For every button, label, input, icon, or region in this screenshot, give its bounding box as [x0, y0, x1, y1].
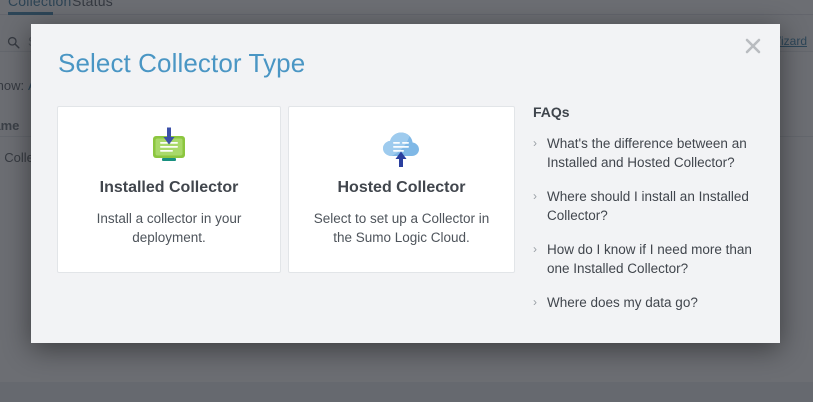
- chevron-right-icon: ›: [533, 240, 537, 259]
- close-icon[interactable]: [740, 33, 766, 59]
- faq-heading: FAQs: [533, 104, 758, 120]
- hosted-collector-cloud-icon: [289, 125, 514, 171]
- installed-collector-monitor-icon: [58, 125, 280, 171]
- select-collector-type-dialog: Select Collector Type Installed Collecto…: [31, 24, 780, 343]
- chevron-right-icon: ›: [533, 293, 537, 312]
- chevron-right-icon: ›: [533, 134, 537, 153]
- chevron-right-icon: ›: [533, 187, 537, 206]
- faq-item-label: How do I know if I need more than one In…: [547, 242, 752, 276]
- faq-item[interactable]: › Where does my data go?: [533, 293, 758, 312]
- dialog-title: Select Collector Type: [58, 48, 305, 79]
- installed-collector-title: Installed Collector: [58, 179, 280, 197]
- hosted-collector-card[interactable]: Hosted Collector Select to set up a Coll…: [288, 106, 515, 273]
- faq-item[interactable]: › What's the difference between an Insta…: [533, 134, 758, 172]
- faq-item-label: Where should I install an Installed Coll…: [547, 189, 749, 223]
- faq-section: FAQs › What's the difference between an …: [533, 104, 758, 327]
- installed-collector-card[interactable]: Installed Collector Install a collector …: [57, 106, 281, 273]
- hosted-collector-description: Select to set up a Collector in the Sumo…: [307, 209, 496, 247]
- hosted-collector-title: Hosted Collector: [289, 179, 514, 197]
- faq-item-label: Where does my data go?: [547, 295, 698, 310]
- faq-item[interactable]: › Where should I install an Installed Co…: [533, 187, 758, 225]
- faq-item[interactable]: › How do I know if I need more than one …: [533, 240, 758, 278]
- installed-collector-description: Install a collector in your deployment.: [76, 209, 262, 247]
- faq-item-label: What's the difference between an Install…: [547, 136, 747, 170]
